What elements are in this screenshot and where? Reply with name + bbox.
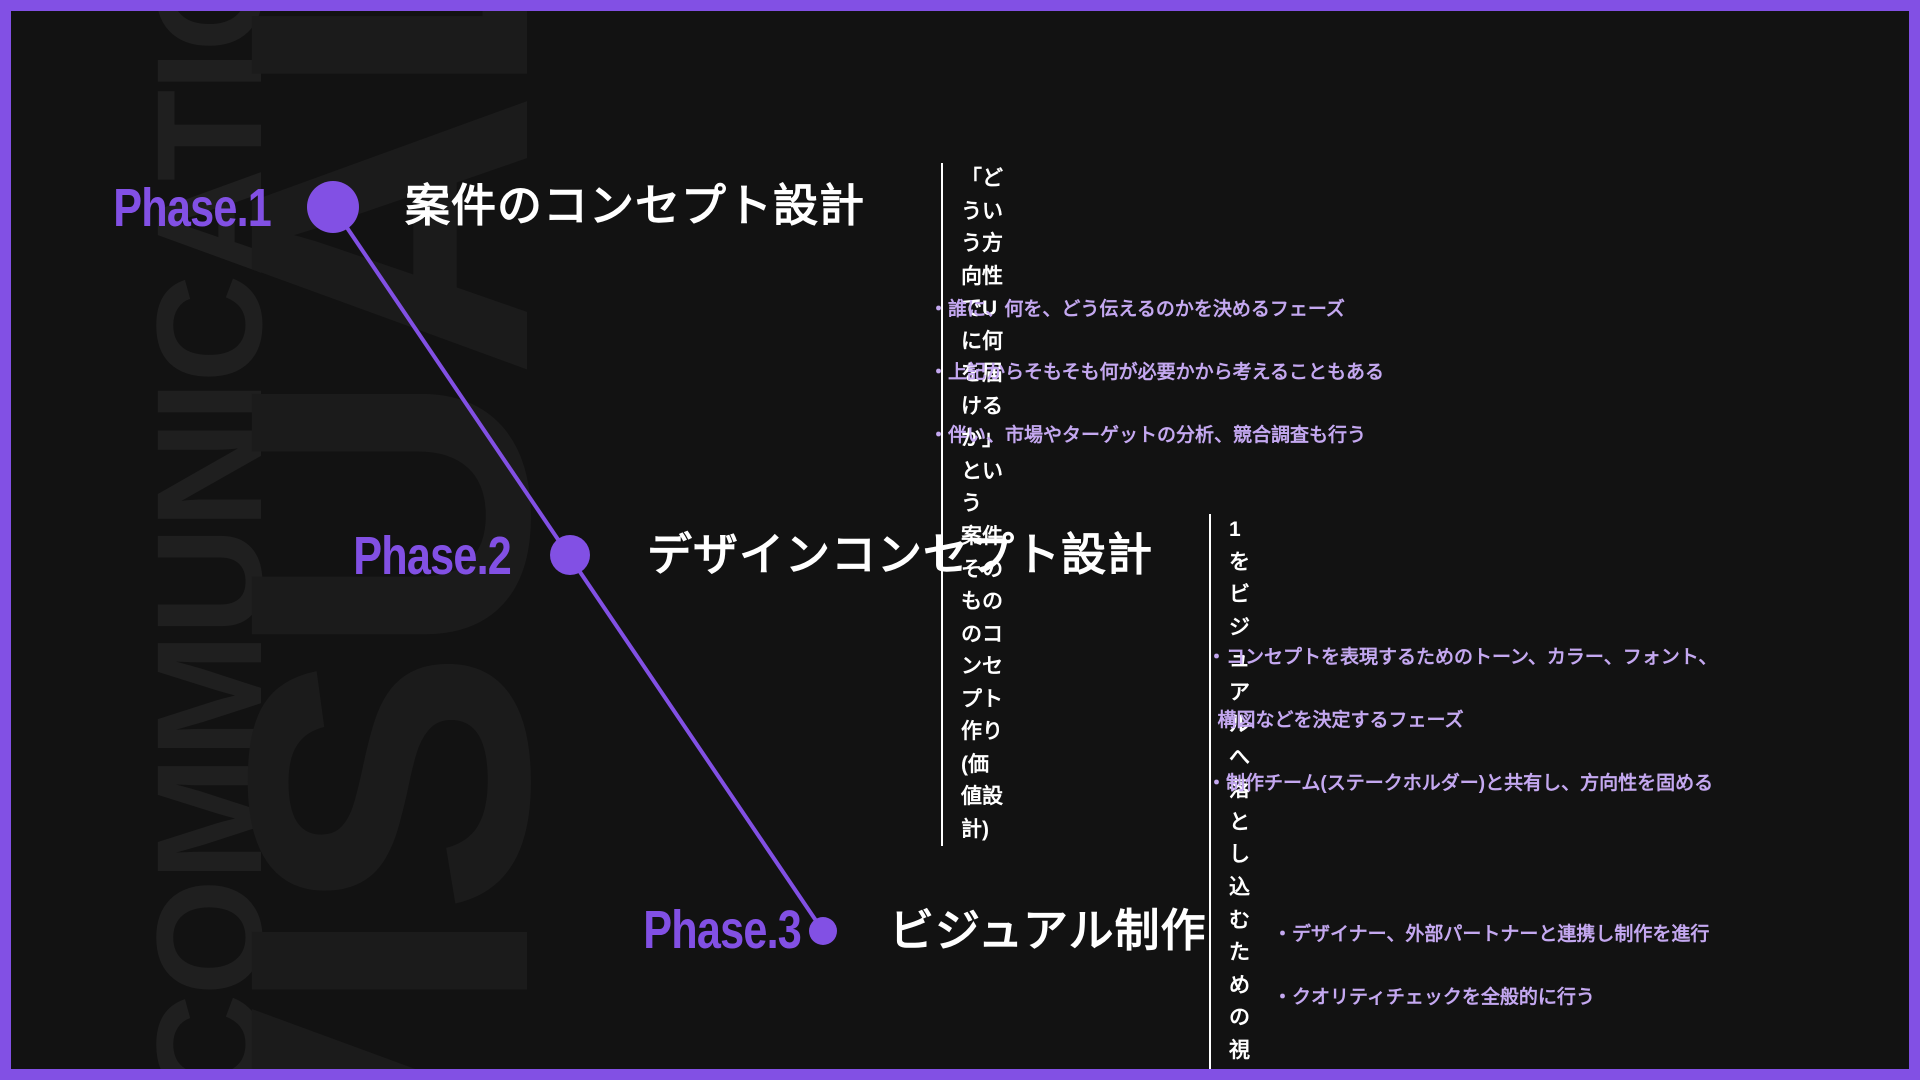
bullet-item: ・コンセプトを表現するためのトーン、カラー、フォント、 [1207, 642, 1717, 673]
bullet-item: ・伴い、市場やターゲットの分析、競合調査も行う [929, 420, 1384, 451]
phase-title-1: 案件のコンセプト設計 [405, 183, 865, 228]
bullet-item: 構図などを決定するフェーズ [1207, 705, 1717, 736]
phase-node-1[interactable] [307, 181, 359, 233]
phase-label-2: Phase.2 [215, 529, 511, 583]
phase-label-3: Phase.3 [433, 903, 801, 957]
phase-title-2: デザインコンセプト設計 [647, 532, 1153, 577]
phase-bullets-3: ・デザイナー、外部パートナーと連携し制作を進行 ・クオリティチェックを全般的に行… [1273, 888, 1709, 1045]
bullet-item: ・制作チーム(ステークホルダー)と共有し、方向性を固める [1207, 768, 1717, 799]
bullet-item: ・デザイナー、外部パートナーと連携し制作を進行 [1273, 919, 1709, 950]
bullet-item: ・誰に、何を、どう伝えるのかを決めるフェーズ [929, 294, 1384, 325]
bullet-item: ・クオリティチェックを全般的に行う [1273, 982, 1709, 1013]
phase-node-2[interactable] [550, 535, 590, 575]
phase-node-3[interactable] [809, 917, 837, 945]
phase-bullets-1: ・誰に、何を、どう伝えるのかを決めるフェーズ ・上記からそもそも何が必要かから考… [929, 263, 1384, 482]
phase-label-1: Phase.1 [31, 181, 271, 235]
bullet-item: ・上記からそもそも何が必要かから考えることもある [929, 357, 1384, 388]
phase-bullets-2: ・コンセプトを表現するためのトーン、カラー、フォント、 構図などを決定するフェー… [1207, 611, 1717, 830]
phase-title-3: ビジュアル制作 [889, 908, 1207, 953]
phase-diagram-canvas: COMMUNICATION VISUAL Phase.1 案件のコンセプト設計 … [0, 0, 1920, 1080]
